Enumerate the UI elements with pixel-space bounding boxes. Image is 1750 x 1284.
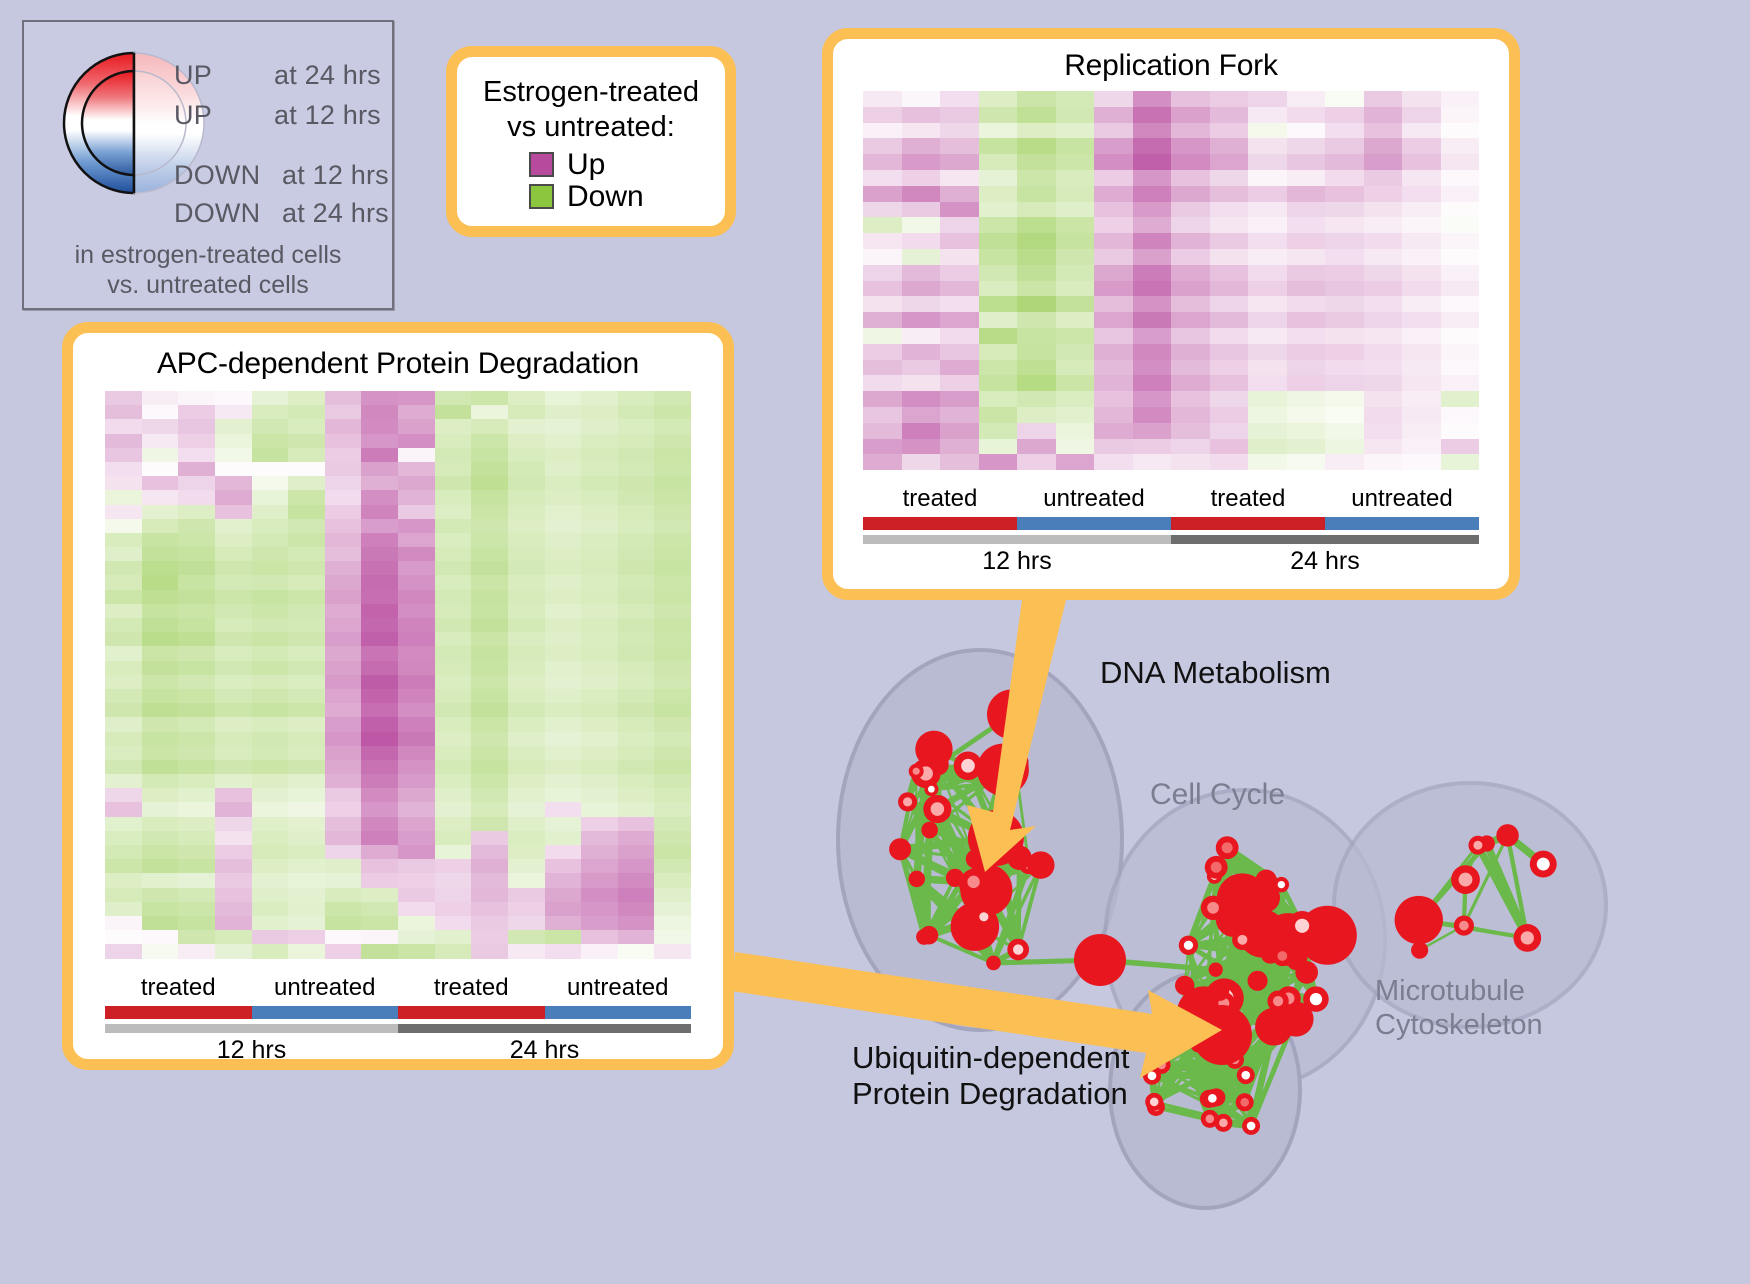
heatmap-cell [1325,154,1364,170]
cluster-label-dna-metabolism: DNA Metabolism [1100,655,1331,691]
heatmap-cell [618,419,655,433]
heatmap-cell [1056,407,1095,423]
heatmap-cell [1133,138,1172,154]
network-node[interactable] [1209,963,1223,977]
heatmap-cell [979,123,1018,139]
network-node-core [1211,862,1222,873]
heatmap-cell [398,717,435,731]
heatmap-cell [215,944,252,958]
heatmap-cell [142,916,179,930]
network-node-core [1247,1122,1256,1131]
heatmap-cell [581,391,618,405]
heatmap-cell [618,519,655,533]
heatmap-cell [325,689,362,703]
heatmap-cell [581,476,618,490]
heatmap-cell [435,604,472,618]
heatmap-cell [1133,233,1172,249]
heatmap-cell [435,434,472,448]
heatmap-cell [105,916,142,930]
heatmap-cell [142,646,179,660]
heatmap-cell [618,434,655,448]
heatmap-cell [863,233,902,249]
heatmap-cell [398,916,435,930]
heatmap-cell [581,788,618,802]
heatmap-cell [1056,439,1095,455]
heatmap-cell [471,859,508,873]
heatmap-cell [215,462,252,476]
sample-group-label: untreated [545,973,692,1003]
heatmap-cell [105,561,142,575]
heatmap-cell [325,604,362,618]
heatmap-cell [471,746,508,760]
heatmap-cell [1056,344,1095,360]
heatmap-cell [142,732,179,746]
heatmap-cell [1210,328,1249,344]
network-node[interactable] [1192,1005,1252,1065]
heatmap-cell [325,405,362,419]
heatmap-cell [1094,328,1133,344]
heatmap-cell [398,462,435,476]
heatmap-cell [142,760,179,774]
heatmap-cell [1171,138,1210,154]
heatmap-cell [940,138,979,154]
heatmap-cell [1248,439,1287,455]
heatmap-cell [398,547,435,561]
heatmap-cell [361,405,398,419]
heatmap-cell [654,391,691,405]
heatmap-cell [940,123,979,139]
network-node[interactable] [988,769,1015,796]
heatmap-cell [654,817,691,831]
heatmap-cell [178,703,215,717]
heatmap-cell [1017,439,1056,455]
wheel-up-12-value: UP [174,100,212,131]
heatmap-cell [654,717,691,731]
heatmap-cell [1017,186,1056,202]
network-node-core [1157,1061,1166,1070]
heatmap-cell [863,360,902,376]
heatmap-cell [435,675,472,689]
heatmap-cell [545,590,582,604]
heatmap-cell [471,845,508,859]
heatmap-cell [863,375,902,391]
heatmap-cell [398,476,435,490]
heatmap-cell [288,448,325,462]
heatmap-cell [398,646,435,660]
heatmap-cell [471,689,508,703]
heatmap-cell [142,802,179,816]
heatmap-cell [288,944,325,958]
network-node[interactable] [1210,982,1229,1001]
heatmap-cell [1364,186,1403,202]
heatmap-cell [361,561,398,575]
heatmap-cell [1094,360,1133,376]
heatmap-cell [1325,233,1364,249]
heatmap-cell [1094,123,1133,139]
heatmap-cell [618,462,655,476]
heatmap-cell [325,916,362,930]
heatmap-cell [1441,107,1480,123]
heatmap-cell [435,533,472,547]
network-node[interactable] [889,838,911,860]
heatmap-cell [1133,265,1172,281]
heatmap-cell [618,405,655,419]
heatmap-cell [940,217,979,233]
heatmap-cell [1364,439,1403,455]
heatmap-cell [398,405,435,419]
heatmap-cell [142,419,179,433]
heatmap-cell [178,632,215,646]
network-node[interactable] [986,956,1001,971]
network-node-core [931,802,945,816]
heatmap-cell [215,561,252,575]
network-node-core [913,768,920,775]
wheel-up-24-value: UP [174,60,212,91]
sample-group-swatch [1017,517,1171,530]
heatmap-cell [654,774,691,788]
heatmap-cell [545,788,582,802]
heatmap-cell [288,505,325,519]
heatmap-cell [1402,170,1441,186]
heatmap-cell [178,916,215,930]
wheel-caption-line2: vs. untreated cells [24,270,392,301]
heatmap-cell [545,760,582,774]
heatmap-cell [618,831,655,845]
heatmap-cell [178,944,215,958]
heatmap-cell [618,746,655,760]
heatmap-cell [435,788,472,802]
wheel-up-12-time: at 12 hrs [274,100,381,131]
heatmap-cell [1210,154,1249,170]
heatmap-cell [178,717,215,731]
heatmap-cell [581,448,618,462]
time-group-swatch [105,1024,398,1033]
heatmap-cell [1171,154,1210,170]
heatmap-cell [471,888,508,902]
heatmap-cell [361,859,398,873]
heatmap-cell [508,760,545,774]
network-node[interactable] [1496,824,1518,846]
heatmap-cell [654,476,691,490]
heatmap-cell [508,717,545,731]
heatmap-cell [1210,391,1249,407]
heatmap-cell [215,434,252,448]
heatmap-cell [105,505,142,519]
heatmap-cell [508,831,545,845]
network-node-core [1206,1115,1215,1124]
heatmap-cell [1287,202,1326,218]
heatmap-cell [1210,454,1249,470]
heatmap-cell [325,490,362,504]
network-node-core [1310,993,1322,1005]
heatmap-cell [435,888,472,902]
heatmap-cell [142,675,179,689]
sample-group-swatch [863,517,1017,530]
heatmap-cell [1133,186,1172,202]
heatmap-cell [1056,281,1095,297]
heatmap-cell [361,930,398,944]
heatmap-cell [618,774,655,788]
heatmap-cell [178,661,215,675]
heatmap-cell [508,859,545,873]
heatmap-cell [105,760,142,774]
heatmap-cell [979,360,1018,376]
heatmap-cell [545,519,582,533]
heatmap-cell [1402,202,1441,218]
heatmap-cell [508,916,545,930]
heatmap-cell [1441,154,1480,170]
replication-time-colorbar [863,535,1479,544]
heatmap-cell [1171,107,1210,123]
heatmap-cell [178,618,215,632]
heatmap-cell [1248,249,1287,265]
heatmap-cell [252,817,289,831]
heatmap-cell [1017,123,1056,139]
heatmap-cell [288,916,325,930]
heatmap-cell [142,703,179,717]
heatmap-cell [215,661,252,675]
heatmap-cell [654,902,691,916]
heatmap-cell [581,831,618,845]
network-node[interactable] [987,689,1037,739]
heatmap-cell [1287,391,1326,407]
heatmap-cell [288,618,325,632]
network-node[interactable] [1175,976,1194,995]
heatmap-cell [1325,312,1364,328]
heatmap-cell [105,930,142,944]
heatmap-cell [1056,91,1095,107]
heatmap-cell [863,249,902,265]
network-node[interactable] [1395,896,1443,944]
heatmap-cell [618,661,655,675]
heatmap-cell [288,519,325,533]
heatmap-cell [1210,186,1249,202]
heatmap-cell [902,202,941,218]
heatmap-cell [1248,233,1287,249]
network-node[interactable] [909,871,925,887]
heatmap-cell [325,646,362,660]
heatmap-cell [1133,312,1172,328]
heatmap-cell [1248,391,1287,407]
heatmap-cell [252,902,289,916]
heatmap-cell [178,732,215,746]
heatmap-cell [398,391,435,405]
heatmap-cell [1325,107,1364,123]
colour-wheel-legend: UP at 24 hrs UP at 12 hrs DOWN at 12 hrs… [22,20,394,310]
heatmap-cell [288,547,325,561]
heatmap-cell [581,675,618,689]
heatmap-cell [1287,312,1326,328]
heatmap-cell [252,405,289,419]
heatmap-cell [142,930,179,944]
heatmap-cell [361,476,398,490]
heatmap-cell [1017,454,1056,470]
network-node[interactable] [951,902,999,950]
network-node[interactable] [1256,870,1277,891]
heatmap-cell [325,802,362,816]
network-edge [916,771,917,879]
heatmap-cell [508,774,545,788]
heatmap-cell [325,434,362,448]
heatmap-cell [1133,375,1172,391]
legend-swatch-list: Up Down [483,150,699,212]
heatmap-cell [1094,107,1133,123]
heatmap-cell [902,186,941,202]
heatmap-cell [178,419,215,433]
heatmap-cell [178,391,215,405]
heatmap-cell [288,902,325,916]
heatmap-cell [142,774,179,788]
heatmap-cell [940,202,979,218]
heatmap-cell [545,689,582,703]
heatmap-cell [1441,217,1480,233]
heatmap-cell [361,703,398,717]
replication-annotation: treateduntreatedtreateduntreated 12 hrs2… [863,484,1479,576]
heatmap-cell [1248,281,1287,297]
heatmap-cell [1133,170,1172,186]
heatmap-cell [142,817,179,831]
heatmap-cell [508,646,545,660]
heatmap-cell [1171,202,1210,218]
heatmap-cell [398,845,435,859]
heatmap-cell [902,123,941,139]
heatmap-cell [1017,312,1056,328]
network-node-core [1537,858,1550,871]
heatmap-cell [398,618,435,632]
heatmap-cell [178,448,215,462]
pathway-network-diagram: DNA Metabolism Cell Cycle Microtubule Cy… [770,600,1750,1279]
heatmap-cell [1248,138,1287,154]
network-node[interactable] [1411,942,1428,959]
network-node[interactable] [1284,1016,1300,1032]
heatmap-cell [142,590,179,604]
heatmap-cell [940,107,979,123]
heatmap-cell [654,547,691,561]
heatmap-cell [1017,154,1056,170]
heatmap-cell [1364,154,1403,170]
heatmap-cell [618,604,655,618]
heatmap-cell [471,831,508,845]
heatmap-cell [1133,296,1172,312]
heatmap-cell [435,831,472,845]
wheel-down-12-time: at 12 hrs [282,160,389,191]
apc-time-labels: 12 hrs24 hrs [105,1036,691,1065]
heatmap-cell [863,281,902,297]
heatmap-cell [252,859,289,873]
heatmap-cell [1133,281,1172,297]
heatmap-cell [1402,107,1441,123]
heatmap-cell [142,902,179,916]
heatmap-cell [902,91,941,107]
network-node[interactable] [1248,971,1268,991]
heatmap-cell [508,873,545,887]
heatmap-cell [940,312,979,328]
heatmap-cell [252,788,289,802]
heatmap-cell [863,328,902,344]
heatmap-cell [1248,344,1287,360]
heatmap-cell [398,434,435,448]
heatmap-cell [325,845,362,859]
heatmap-cell [398,519,435,533]
network-node[interactable] [921,822,938,839]
network-node-core [1521,931,1534,944]
heatmap-cell [1441,454,1480,470]
heatmap-cell [545,675,582,689]
heatmap-cell [545,575,582,589]
heatmap-cell [215,760,252,774]
heatmap-cell [361,689,398,703]
heatmap-cell [979,281,1018,297]
heatmap-cell [1171,170,1210,186]
heatmap-cell [471,575,508,589]
heatmap-cell [1133,407,1172,423]
heatmap-cell [1133,217,1172,233]
heatmap-cell [1210,312,1249,328]
heatmap-cell [1133,107,1172,123]
heatmap-cell [215,590,252,604]
heatmap-cell [1017,344,1056,360]
heatmap-cell [178,590,215,604]
network-node[interactable] [966,850,985,869]
heatmap-cell [545,873,582,887]
heatmap-cell [1325,249,1364,265]
heatmap-cell [1094,138,1133,154]
heatmap-cell [1133,91,1172,107]
heatmap-cell [252,434,289,448]
network-node[interactable] [1007,845,1032,870]
heatmap-cell [1441,123,1480,139]
network-node-core [1240,1098,1249,1107]
heatmap-cell [545,561,582,575]
heatmap-cell [1364,423,1403,439]
heatmap-cell [105,802,142,816]
heatmap-cell [1402,265,1441,281]
heatmap-cell [215,831,252,845]
heatmap-cell [215,916,252,930]
heatmap-cell [288,817,325,831]
network-node-core [1150,1098,1159,1107]
heatmap-cell [471,519,508,533]
heatmap-cell [435,405,472,419]
heatmap-cell [1056,375,1095,391]
heatmap-cell [618,902,655,916]
heatmap-cell [178,604,215,618]
heatmap-cell [1248,217,1287,233]
heatmap-cell [1248,360,1287,376]
network-node[interactable] [1074,934,1126,986]
heatmap-cell [215,746,252,760]
heatmap-cell [398,575,435,589]
heatmap-cell [1364,217,1403,233]
heatmap-cell [545,646,582,660]
heatmap-cell [435,519,472,533]
heatmap-cell [863,296,902,312]
heatmap-cell [654,646,691,660]
heatmap-cell [105,831,142,845]
heatmap-cell [581,561,618,575]
heatmap-cell [178,831,215,845]
heatmap-cell [398,760,435,774]
heatmap-cell [508,476,545,490]
heatmap-cell [398,746,435,760]
heatmap-cell [618,391,655,405]
heatmap-cell [178,462,215,476]
sample-group-label: treated [863,484,1017,514]
time-group-swatch [1171,535,1479,544]
network-node[interactable] [920,926,939,945]
heatmap-cell [902,154,941,170]
heatmap-cell [1171,407,1210,423]
